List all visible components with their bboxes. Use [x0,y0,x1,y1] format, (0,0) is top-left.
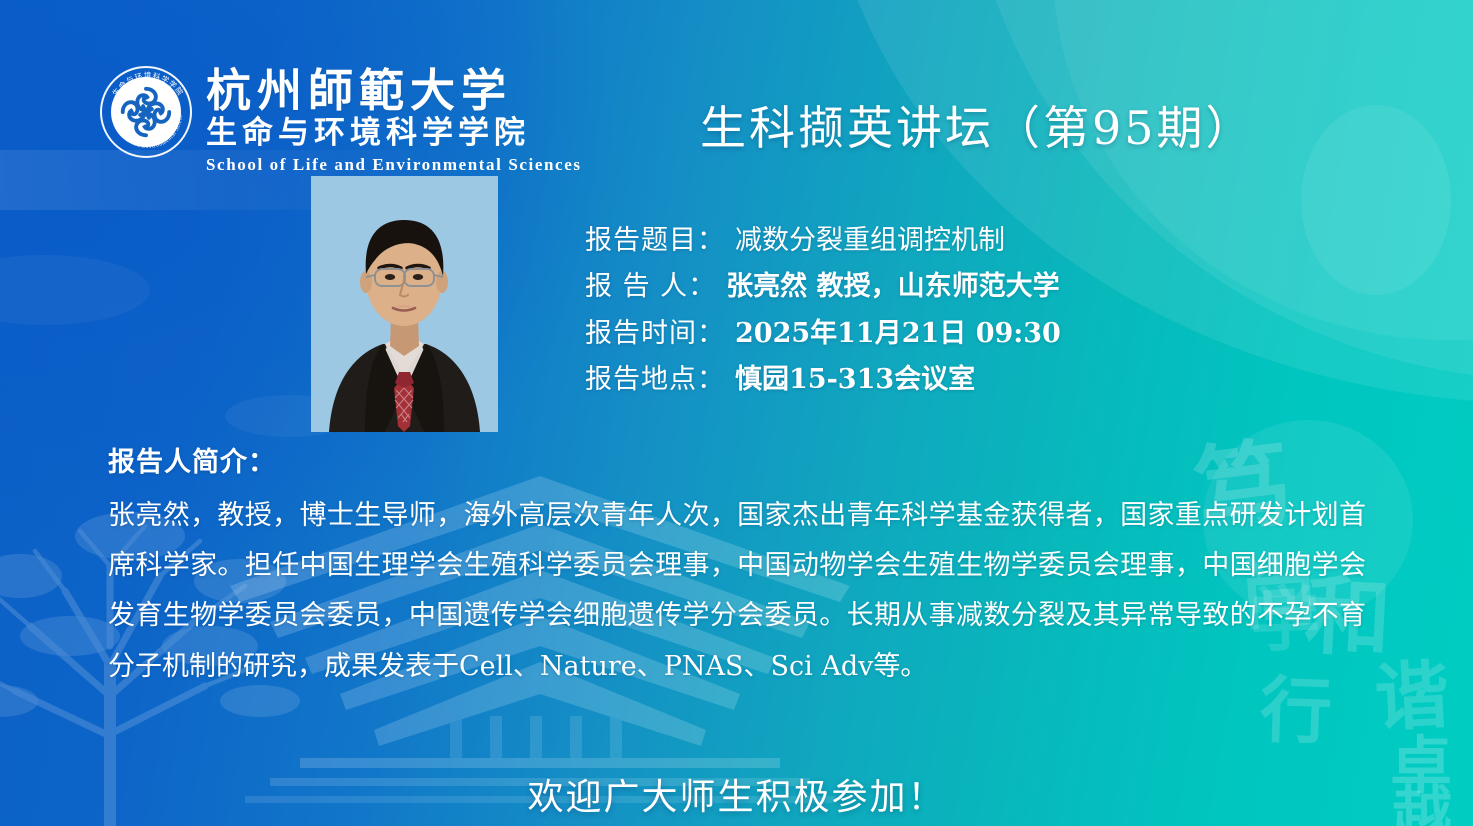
school-wordmark: 杭州師範大学 生命与环境科学学院 School of Life and Envi… [206,66,582,175]
info-row-venue: 报告地点： 慎园15-313会议室 [585,357,1061,403]
school-logo: 生命与环境科学学院 School of Life and Environment… [100,66,582,175]
decorative-blob [0,255,150,325]
poster-header: 生命与环境科学学院 School of Life and Environment… [0,0,1473,180]
info-row-time: 报告时间： 2025年11月21日 09:30 [585,311,1061,357]
university-name-cn: 杭州師範大学 [206,68,582,114]
college-name-en: School of Life and Environmental Science… [206,155,582,175]
footer-welcome-text: 欢迎广大师生积极参加！ [0,768,1473,820]
bio-heading: 报告人简介： [108,440,1366,479]
info-value-time: 2025年11月21日 09:30 [735,311,1061,357]
calligraphy-char: 谐 [1373,658,1451,736]
speaker-portrait [311,176,498,432]
speaker-bio: 报告人简介： 张亮然，教授，博士生导师，海外高层次青年人次，国家杰出青年科学基金… [108,440,1366,692]
info-value-venue: 慎园15-313会议室 [735,357,975,403]
poster-canvas: 笃 学 和 谐 尚 行 卓 越 [0,0,1473,826]
bio-body: 张亮然，教授，博士生导师，海外高层次青年人次，国家杰出青年科学基金获得者，国家重… [108,491,1366,692]
info-label: 报 告 人： [585,264,716,310]
info-value-speaker: 张亮然 教授，山东师范大学 [726,264,1059,310]
emblem-ring-text: 生命与环境科学学院 School of Life and Environment… [102,68,190,156]
info-label: 报告题目： [585,218,725,264]
info-row-speaker: 报 告 人： 张亮然 教授，山东师范大学 [585,264,1061,310]
school-emblem-icon: 生命与环境科学学院 School of Life and Environment… [100,66,192,158]
info-row-topic: 报告题目： 减数分裂重组调控机制 [585,218,1061,264]
lecture-info: 报告题目： 减数分裂重组调控机制 报 告 人： 张亮然 教授，山东师范大学 报告… [585,218,1061,404]
info-value-topic: 减数分裂重组调控机制 [735,218,1005,264]
info-label: 报告时间： [585,311,725,357]
page-title: 生科撷英讲坛（第95期） [700,92,1255,158]
info-label: 报告地点： [585,357,725,403]
svg-text:生命与环境科学学院: 生命与环境科学学院 [111,71,186,98]
college-name-cn: 生命与环境科学学院 [206,116,582,152]
